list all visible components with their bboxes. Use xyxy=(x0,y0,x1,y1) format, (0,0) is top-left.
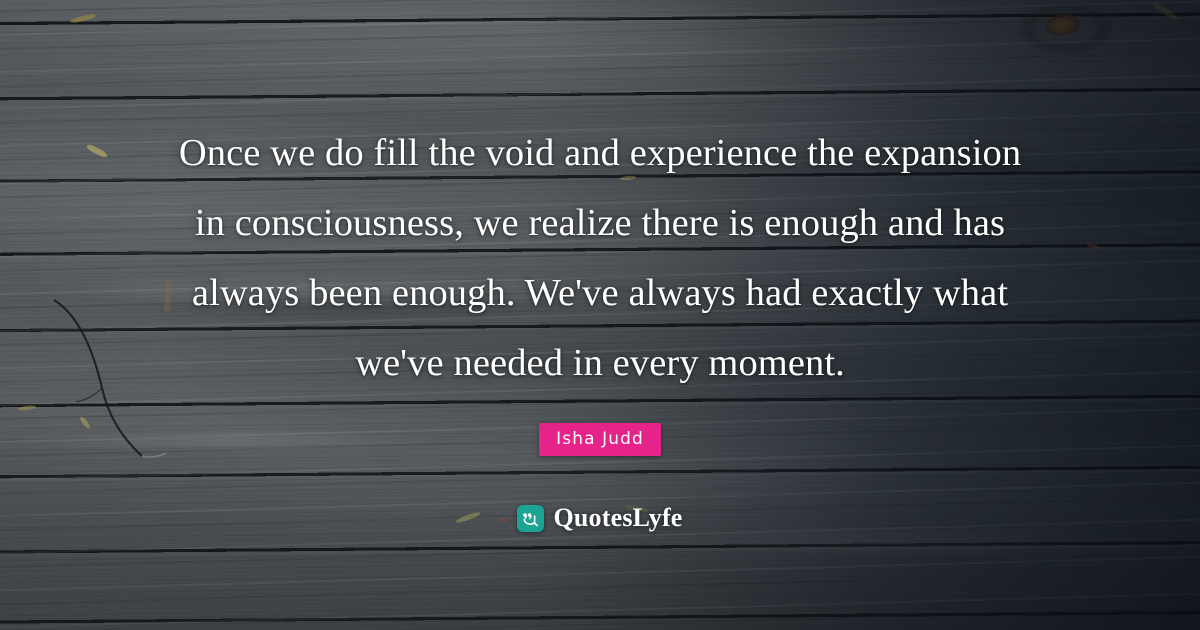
brand-logo[interactable]: QuotesLyfe xyxy=(517,503,682,533)
quote-smiley-icon xyxy=(517,505,544,532)
quote-text: Once we do fill the void and experience … xyxy=(160,118,1040,398)
brand-name: QuotesLyfe xyxy=(553,503,682,533)
author-badge[interactable]: Isha Judd xyxy=(539,423,661,456)
quote-card: Once we do fill the void and experience … xyxy=(0,0,1200,630)
card-content: Once we do fill the void and experience … xyxy=(0,0,1200,630)
